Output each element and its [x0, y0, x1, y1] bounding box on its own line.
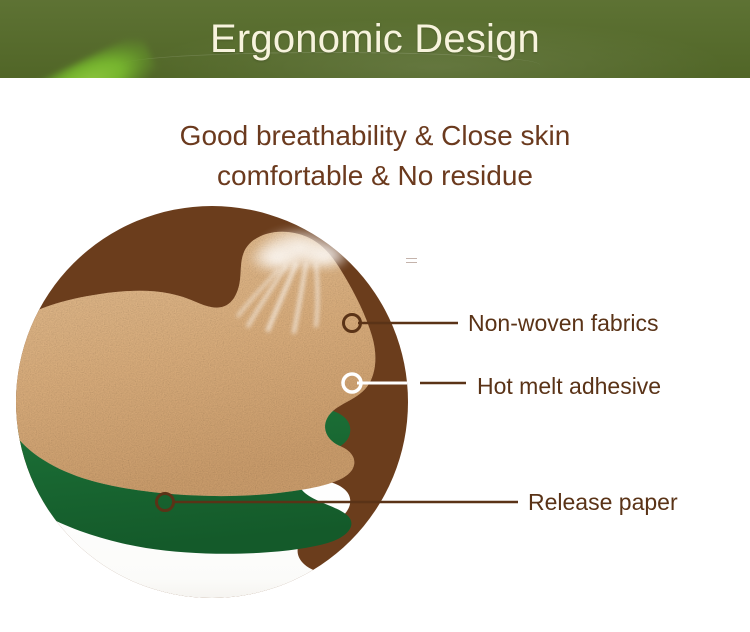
product-cross-section-illustration: [0, 190, 750, 610]
subtitle: Good breathability & Close skin comforta…: [0, 116, 750, 196]
header-banner: Ergonomic Design: [0, 0, 750, 78]
infographic-page: Ergonomic Design Good breathability & Cl…: [0, 0, 750, 632]
callout-label-release-paper: Release paper: [528, 489, 678, 516]
callout-label-non-woven-fabrics: Non-woven fabrics: [468, 310, 658, 337]
callout-label-hot-melt-adhesive: Hot melt adhesive: [477, 373, 661, 400]
page-title: Ergonomic Design: [0, 0, 750, 78]
subtitle-line-1: Good breathability & Close skin: [0, 116, 750, 156]
